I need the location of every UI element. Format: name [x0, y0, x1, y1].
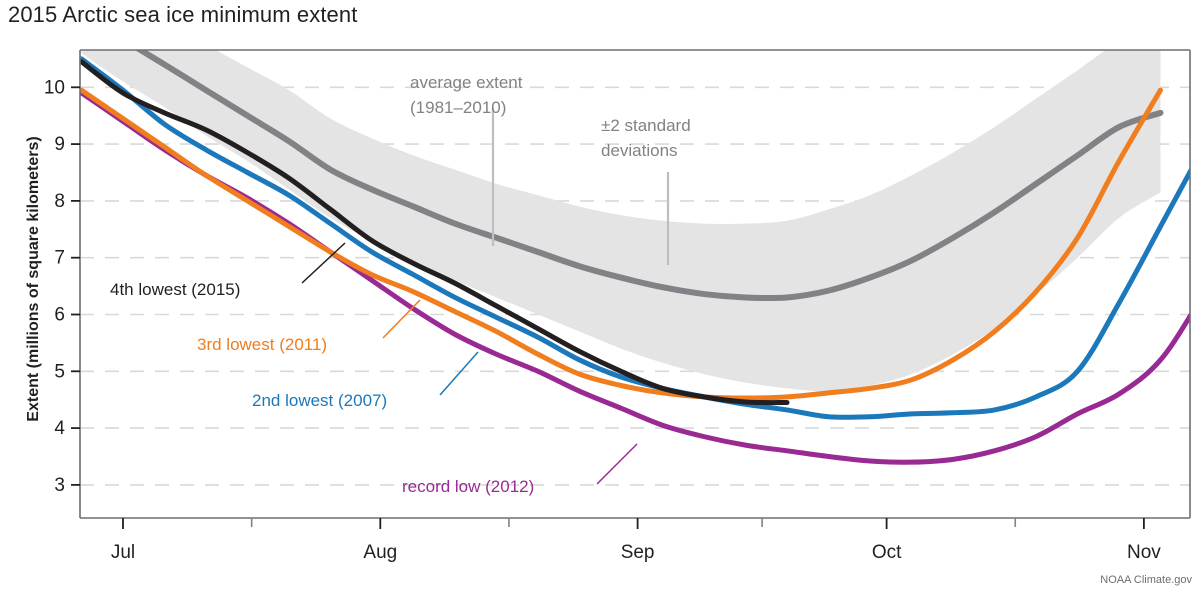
x-tick-label: Sep	[621, 542, 655, 563]
y-tick-label: 9	[54, 134, 65, 155]
x-tick-label: Jul	[111, 542, 135, 563]
x-tick-label: Oct	[872, 542, 902, 563]
annotation-band-line2: deviations	[601, 141, 678, 160]
y-tick-label: 4	[54, 418, 65, 439]
annotation-2011: 3rd lowest (2011)	[197, 335, 327, 354]
y-tick-label: 5	[54, 361, 65, 382]
y-tick-label: 6	[54, 305, 65, 326]
y-tick-label: 3	[54, 475, 65, 496]
annotation-2007: 2nd lowest (2007)	[252, 391, 387, 410]
x-tick-label: Aug	[363, 542, 397, 563]
y-tick-label: 7	[54, 248, 65, 269]
annotation-average-line2: (1981–2010)	[410, 98, 506, 117]
chart-figure: 2015 Arctic sea ice minimum extent Exten…	[0, 0, 1200, 590]
chart-svg: 109876543JulAugSepOctNov average extent …	[0, 0, 1200, 590]
y-tick-label: 10	[44, 77, 65, 98]
annotation-average-line1: average extent	[410, 73, 523, 92]
x-tick-label: Nov	[1127, 542, 1161, 563]
annotation-2012: record low (2012)	[402, 477, 534, 496]
annotation-2015: 4th lowest (2015)	[110, 280, 240, 299]
annotation-band-line1: ±2 standard	[601, 116, 691, 135]
y-tick-label: 8	[54, 191, 65, 212]
